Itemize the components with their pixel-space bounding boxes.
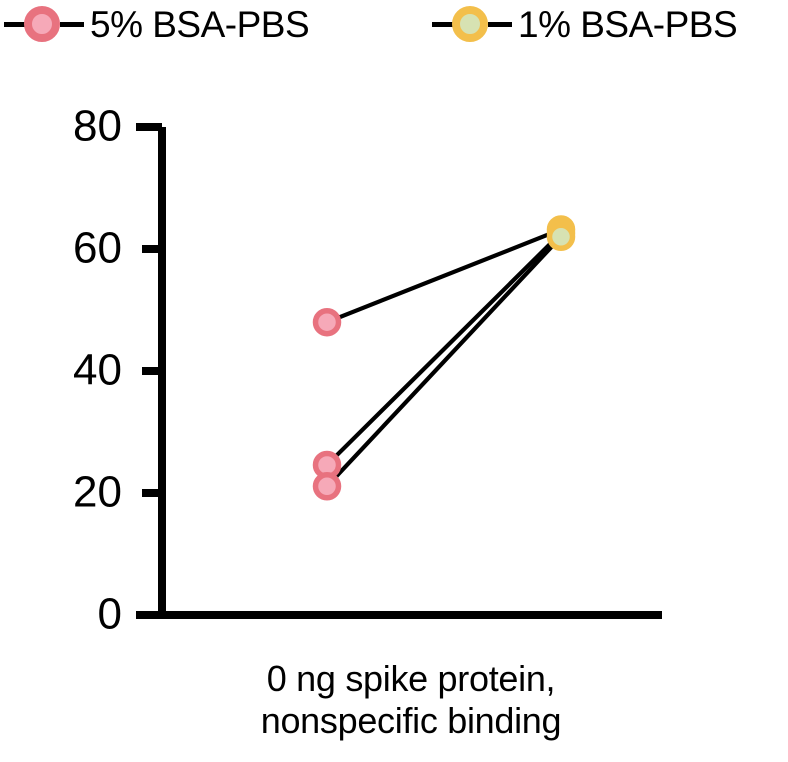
circle-marker-yellow-icon: [452, 6, 488, 42]
data-point-red: [316, 475, 339, 498]
data-connector-line: [327, 233, 561, 465]
chart-canvas: 020406080: [0, 48, 788, 648]
legend-item-5-percent-bsa-pbs[interactable]: 5% BSA-PBS: [4, 0, 309, 48]
chart-legend: 5% BSA-PBS 1% BSA-PBS: [0, 0, 788, 48]
y-axis-tick-label: 60: [73, 224, 122, 273]
x-axis-caption-line-1: 0 ng spike protein,: [160, 658, 662, 700]
circle-marker-red-icon: [24, 6, 60, 42]
legend-key-yellow: [432, 2, 512, 46]
plot-area: 020406080: [0, 48, 788, 648]
y-axis-tick-labels: 020406080: [73, 102, 122, 639]
x-axis-caption: 0 ng spike protein, nonspecific binding: [160, 658, 662, 742]
y-axis-tick-label: 40: [73, 346, 122, 395]
legend-item-label: 1% BSA-PBS: [518, 6, 737, 43]
axis-layer: [136, 127, 662, 615]
data-point-yellow: [550, 225, 573, 248]
x-axis-caption-line-2: nonspecific binding: [160, 700, 662, 742]
data-connector-lines: [327, 229, 561, 486]
y-axis-tick-label: 20: [73, 468, 122, 517]
y-axis-tick-label: 0: [98, 590, 122, 639]
legend-item-label: 5% BSA-PBS: [90, 6, 309, 43]
legend-key-red: [4, 2, 84, 46]
legend-item-1-percent-bsa-pbs[interactable]: 1% BSA-PBS: [432, 0, 737, 48]
legend-dash-right-icon: [488, 22, 512, 27]
legend-dash-right-icon: [60, 22, 84, 27]
data-point-red: [316, 311, 339, 334]
y-axis-tick-label: 80: [73, 102, 122, 151]
